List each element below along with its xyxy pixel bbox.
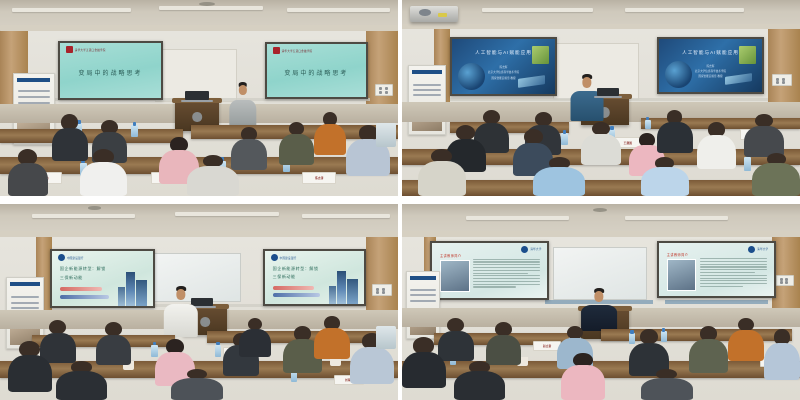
audience-member [231, 127, 267, 170]
slide-subtitle-3: 国家智能实验室·教授 [659, 75, 762, 79]
attendee-body [402, 352, 446, 389]
slide-logo-text: 中国建设银行 [67, 256, 84, 260]
slide-title-line-1: 国企新能源转型：解锁 [273, 266, 319, 272]
projection-screen-left: 中国建设银行 国企新能源转型：解锁 三保新动能 [50, 249, 155, 308]
slide-logo: 清华大学 [521, 246, 541, 253]
slide-title: 主讲教师简介 [667, 252, 689, 257]
audience-member [8, 341, 52, 392]
slide-logo: 中国建设银行 [271, 254, 297, 261]
banner-line [410, 289, 435, 291]
audience-member [533, 157, 585, 196]
skyscraper-graphic [329, 286, 336, 304]
banner-line [410, 300, 435, 302]
audience-member [239, 318, 271, 357]
lectern-emblem [192, 112, 202, 122]
audience-member [56, 361, 108, 400]
wall-outlet [772, 74, 792, 86]
slide-title-line-2: 三保新动能 [273, 274, 296, 280]
skyscraper-graphic [118, 287, 125, 306]
banner-header-bar [10, 282, 40, 286]
desk-nameplate: 陈志涛 [302, 172, 336, 184]
attendee-body [279, 134, 315, 165]
audience-member [689, 326, 729, 373]
photo-collage: 清华大学五道口金融学院 变局中的战略思考 清华大学五道口金融学院 变局中的战略思… [0, 0, 800, 400]
attendee-body [314, 124, 346, 155]
wall-outlet [375, 84, 393, 96]
attendee-body [8, 163, 48, 196]
slide-title: 人工智能与AI赋能应用 [452, 50, 555, 56]
attendee-body [314, 328, 350, 359]
slide-logo-text: 清华大学五道口金融学院 [75, 48, 106, 52]
banner-line [11, 307, 40, 309]
audience-member [752, 153, 800, 196]
audience-member [96, 322, 132, 365]
attendee-body [641, 378, 693, 400]
audience-member [657, 110, 693, 153]
attendee-body [80, 162, 128, 196]
slide-title: 人工智能与AI赋能应用 [659, 50, 762, 56]
water-cooler [376, 123, 396, 147]
projection-screen-left: 人工智能与AI赋能应用 陈志辉 北京大学信息科学技术学院 国家智能实验室·教授 [450, 37, 557, 96]
ceiling-light-strip [12, 8, 131, 12]
event-rollup-banner [408, 65, 446, 136]
audience-member [744, 114, 784, 157]
nameplate-text: 陈志涛 [315, 176, 323, 180]
attendee-body [641, 167, 689, 196]
audience-member [486, 322, 522, 365]
ceiling-speaker [88, 206, 102, 210]
water-bottle [215, 345, 221, 357]
attendee-body [171, 378, 223, 400]
projection-screen-right: 清华大学五道口金融学院 变局中的战略思考 [265, 42, 369, 99]
water-bottle [645, 120, 651, 130]
presenter-head [582, 77, 591, 88]
presenter-head [239, 85, 247, 95]
projection-screen-right: 中国建设银行 国企新能源转型：解锁 三保新动能 [263, 249, 367, 306]
slide-body-text [473, 259, 540, 288]
university-logo-icon [521, 246, 528, 253]
banner-header-bar [410, 276, 437, 280]
slide-chip-blue [60, 295, 109, 299]
banner-line [18, 96, 50, 98]
audience-member [581, 122, 621, 165]
collage-panel-top-right[interactable]: 人工智能与AI赋能应用 陈志辉 北京大学信息科学技术学院 国家智能实验室·教授 … [402, 0, 800, 196]
speaker-portrait [440, 260, 470, 293]
presenter [163, 286, 199, 337]
projection-screen-right: 人工智能与AI赋能应用 陈志辉 北京大学信息科学技术学院 国家智能实验室·教授 [657, 37, 764, 94]
ceiling-light-strip [287, 8, 390, 12]
attendee-body [418, 161, 466, 196]
skyscraper-graphic [347, 279, 358, 304]
audience-member [279, 122, 315, 165]
ceiling-speaker [593, 208, 607, 212]
slide-logo-text: 清华大学 [530, 247, 541, 251]
attendee-body [454, 371, 506, 400]
presenter-laptop [597, 88, 619, 96]
slide-subtitle-2: 北京大学信息科学技术学院 [659, 70, 762, 74]
slide-logo-text: 清华大学 [757, 247, 768, 251]
water-bottle [561, 133, 567, 145]
collage-panel-bottom-right[interactable]: 清华大学 主讲教师简介 清华大学 主讲教师简介 [402, 204, 800, 400]
wall-accent-band [665, 300, 768, 304]
banner-line [410, 294, 435, 296]
attendee-body [764, 343, 800, 381]
slide-subtitle-1: 陈志辉 [452, 66, 555, 70]
lectern-emblem [200, 317, 210, 327]
collage-panel-top-left[interactable]: 清华大学五道口金融学院 变局中的战略思考 清华大学五道口金融学院 变局中的战略思… [0, 0, 398, 196]
audience-member [728, 318, 764, 361]
slide-title: 主讲教师简介 [440, 253, 462, 258]
audience-member [8, 149, 48, 196]
projector-indicator [438, 13, 448, 17]
banner-header-bar [412, 70, 442, 74]
ceiling-light-strip [159, 6, 262, 10]
slide-logo-text: 中国建设银行 [280, 256, 297, 260]
ceiling-light-strip [32, 214, 135, 218]
attendee-body [728, 330, 764, 361]
slide-logo: 清华大学五道口金融学院 [273, 47, 313, 54]
slide-logo: 清华大学 [748, 246, 768, 253]
university-logo-icon [748, 246, 755, 253]
attendee-body [231, 139, 267, 170]
slide-subtitle-2: 北京大学信息科学技术学院 [452, 71, 555, 75]
presenter [569, 74, 605, 121]
slide-subtitle-1: 陈志辉 [659, 65, 762, 69]
banner-header-bar [17, 78, 50, 82]
attendee-body [239, 329, 271, 357]
attendee-body [689, 339, 729, 373]
audience-member [697, 122, 737, 169]
banner-line [18, 90, 50, 92]
attendee-body [533, 167, 585, 196]
banner-line [413, 89, 442, 91]
presenter-head [594, 291, 603, 302]
slide-logo-text: 清华大学五道口金融学院 [282, 49, 313, 53]
ceiling-speaker [199, 2, 215, 6]
attendee-body [56, 371, 108, 400]
banner-line [11, 302, 40, 304]
slide-body-text [700, 258, 767, 287]
slide-logo: 清华大学五道口金融学院 [66, 46, 106, 53]
slide-title: 变局中的战略思考 [60, 68, 161, 77]
presenter-laptop [185, 91, 209, 100]
university-crest-icon [273, 47, 280, 54]
audience-member [418, 149, 466, 196]
slide-chip-red [60, 287, 103, 291]
audience-member [454, 361, 506, 400]
audience-member [314, 316, 350, 359]
attendee-body [8, 355, 52, 392]
attendee-body [561, 365, 605, 400]
audience-member [171, 369, 223, 400]
attendee-body [350, 347, 394, 385]
university-crest-icon [66, 46, 73, 53]
attendee-body [657, 122, 693, 153]
skyscraper-graphic [126, 272, 135, 306]
nameplate-text: 赵立新 [543, 344, 551, 348]
wall-outlet [372, 284, 392, 296]
event-rollup-banner [406, 271, 440, 340]
skyscraper-graphic [337, 271, 346, 304]
wall-outlet [776, 275, 794, 287]
speaker-portrait [667, 259, 697, 291]
audience-member [641, 369, 693, 400]
projection-screen-left: 清华大学 主讲教师简介 [430, 241, 549, 300]
audience-member [764, 329, 800, 380]
ceiling-light-strip [466, 216, 569, 220]
attendee-body [752, 163, 800, 196]
slide-title: 变局中的战略思考 [267, 68, 367, 77]
water-cooler [376, 326, 396, 350]
audience-member [561, 353, 605, 400]
slide-logo: 中国建设银行 [58, 254, 84, 261]
audience-member [641, 157, 689, 196]
projector-lens-icon [419, 9, 431, 17]
banner-line [413, 94, 442, 96]
ceiling-projector [410, 6, 458, 22]
attendee-body [697, 135, 737, 169]
presenter-head [176, 289, 185, 300]
slide-title-line-1: 国企新能源转型：解锁 [60, 266, 106, 272]
ceiling-light-strip [625, 216, 728, 220]
bank-logo-icon [58, 254, 65, 261]
slide-title-line-2: 三保新动能 [60, 275, 83, 281]
audience-member [314, 112, 346, 155]
bank-logo-icon [271, 254, 278, 261]
ceiling-light-strip [302, 214, 390, 218]
slide-subtitle-3: 国家智能实验室·教授 [452, 77, 555, 81]
skyscraper-graphic [136, 280, 147, 306]
projection-screen-right: 清华大学 主讲教师简介 [657, 241, 776, 298]
presenter-body [164, 304, 198, 338]
water-bottle [744, 157, 751, 171]
water-bottle [131, 125, 137, 137]
ceiling-light-strip [175, 212, 278, 216]
banner-line [11, 296, 40, 298]
audience-member [402, 337, 446, 388]
ceiling-light-strip [625, 8, 744, 12]
attendee-body [581, 134, 621, 165]
slide-chip-red [273, 286, 315, 290]
collage-panel-bottom-left[interactable]: 中国建设银行 国企新能源转型：解锁 三保新动能 中国建设银行 国企新能源转型：解… [0, 204, 398, 400]
slide-chip-blue [273, 293, 321, 297]
audience-member [80, 149, 128, 196]
projection-screen-left: 清华大学五道口金融学院 变局中的战略思考 [58, 41, 163, 100]
ceiling-light-strip [482, 8, 593, 12]
banner-line [413, 84, 442, 86]
